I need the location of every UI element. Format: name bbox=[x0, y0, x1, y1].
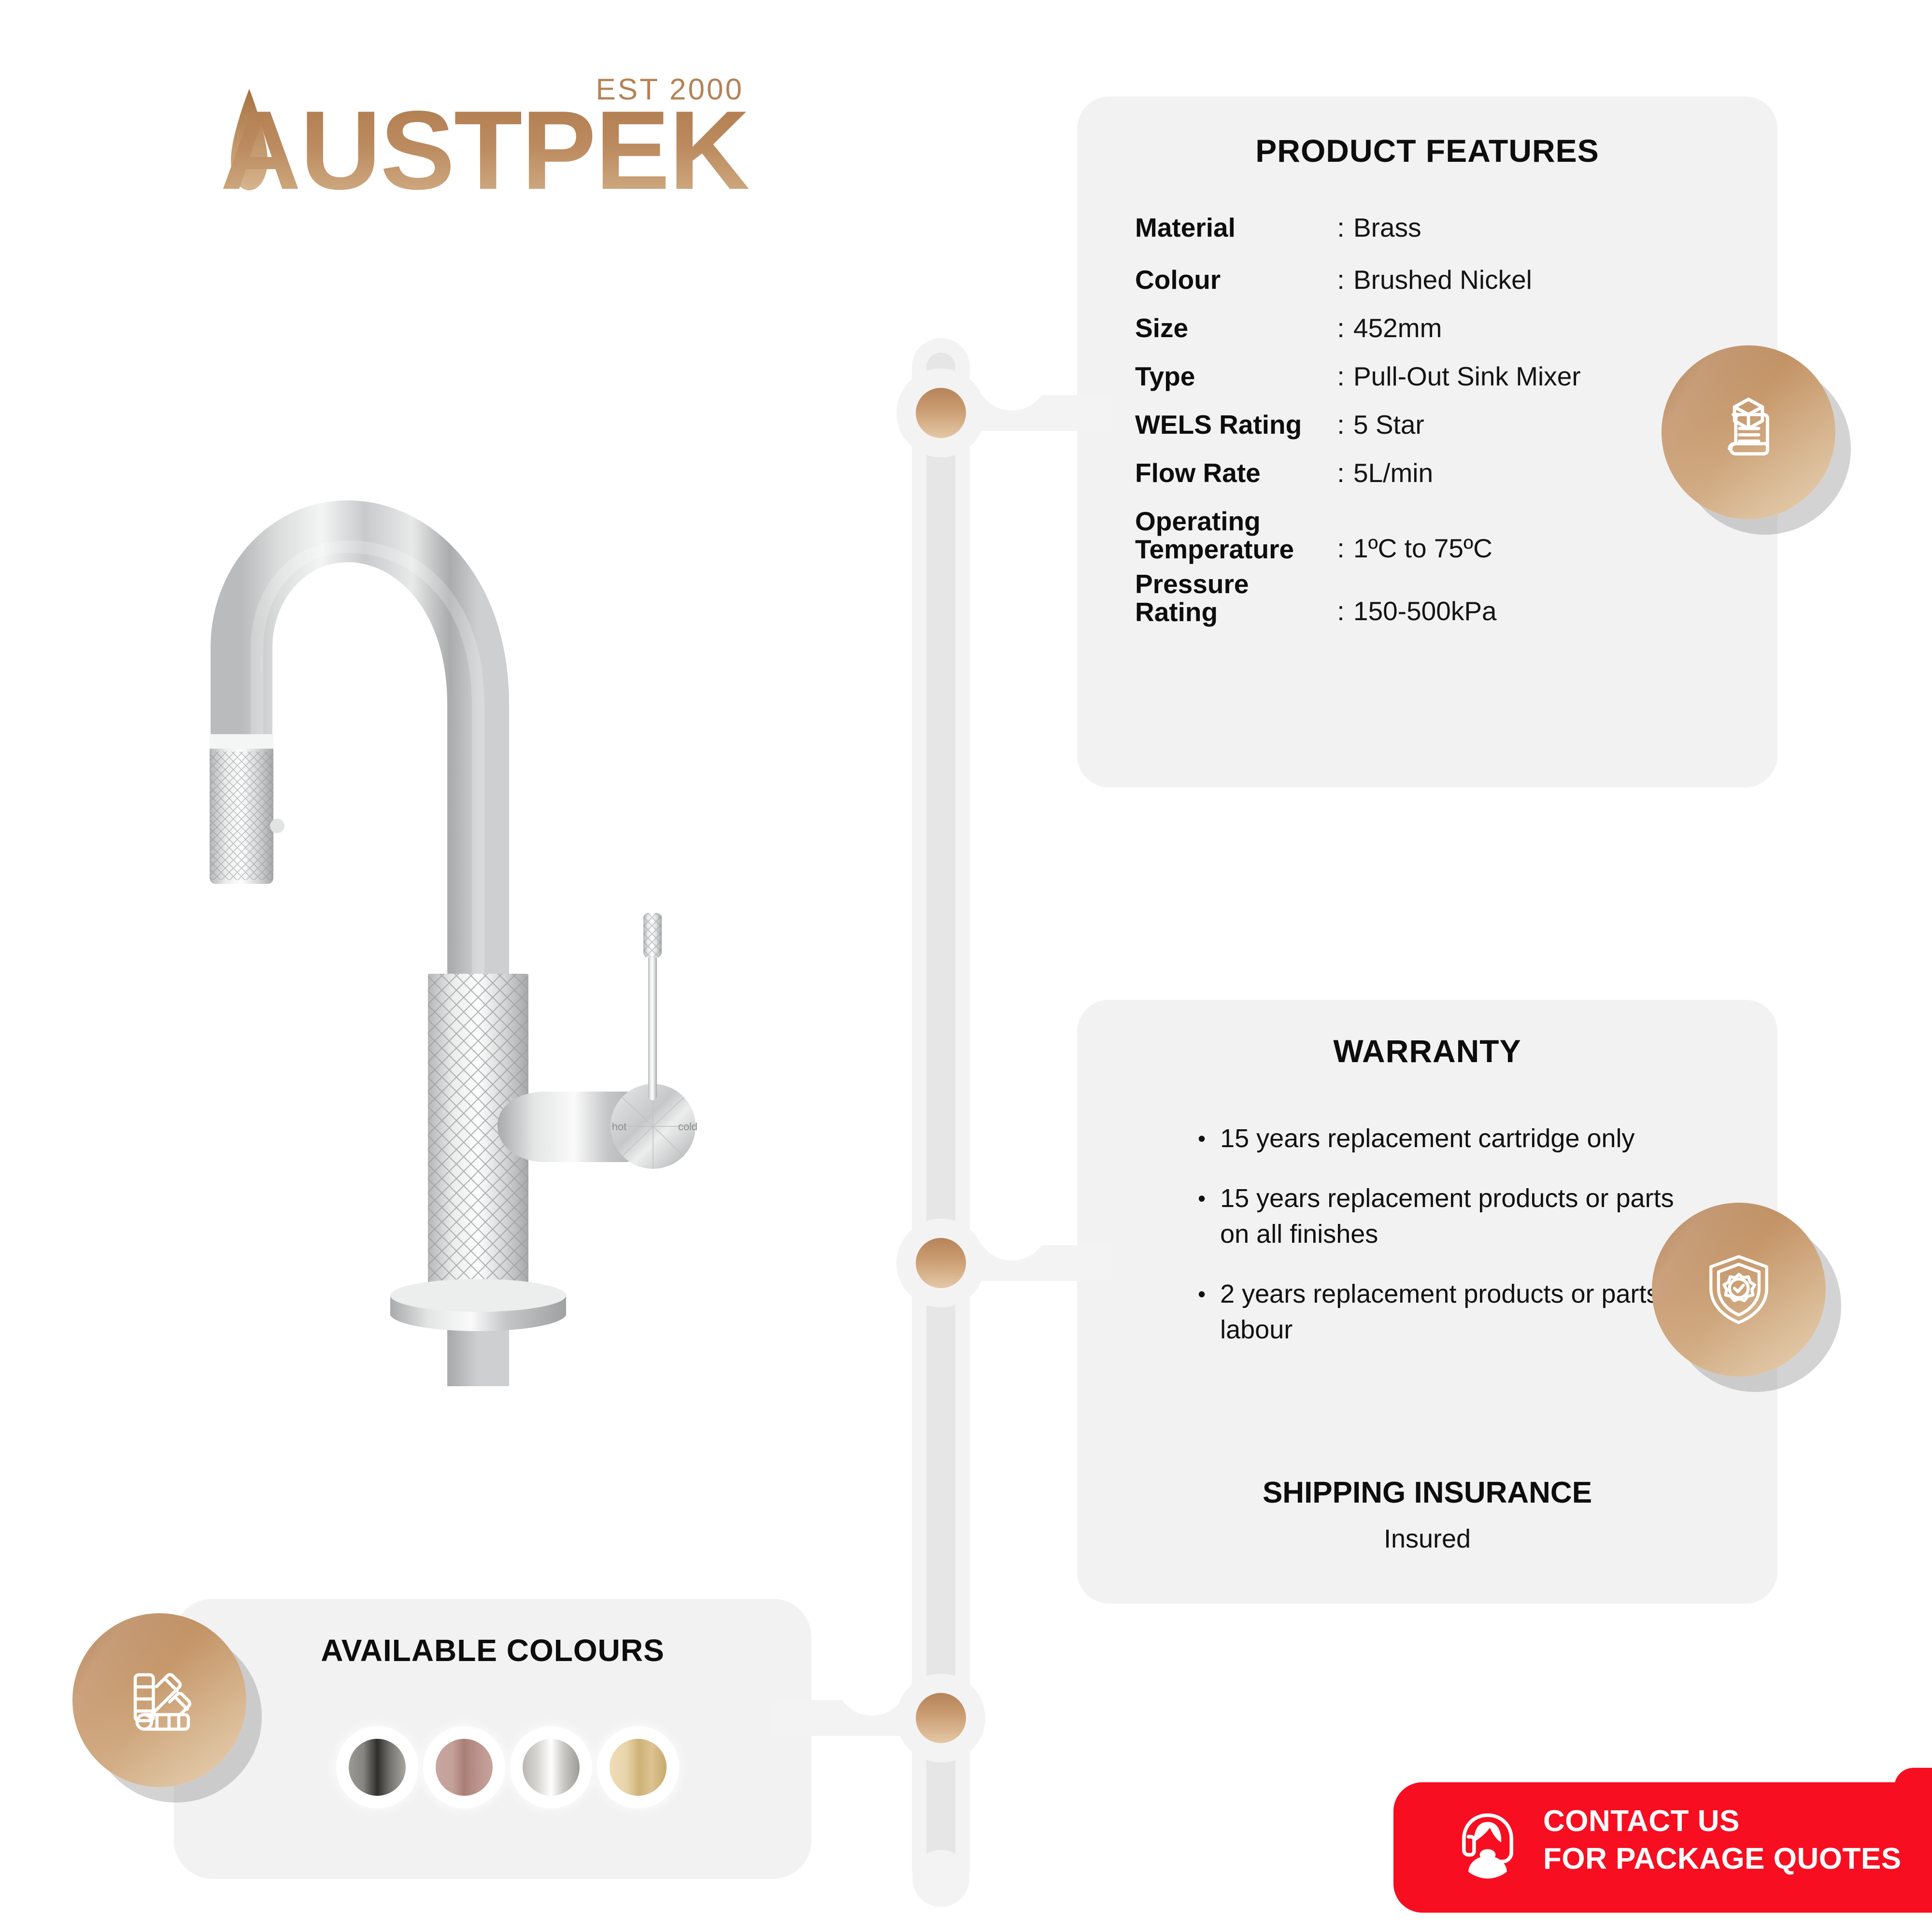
infographic-canvas: EST 2000 AUSTPEK bbox=[0, 0, 1932, 1932]
feature-label: WELS Rating bbox=[1135, 410, 1328, 440]
contact-us-banner[interactable]: CONTACT US FOR PACKAGE QUOTES bbox=[1393, 1768, 1932, 1913]
timeline-node-features bbox=[896, 369, 985, 457]
colour-swatch-row bbox=[349, 1739, 667, 1796]
feature-row: Material:Brass bbox=[1135, 213, 1734, 242]
feature-value: Brushed Nickel bbox=[1353, 265, 1734, 295]
timeline-notch-3a bbox=[836, 1643, 908, 1716]
feature-separator: : bbox=[1328, 458, 1353, 488]
timeline-track-inner bbox=[926, 353, 955, 1884]
contact-line-1: CONTACT US bbox=[1543, 1803, 1902, 1840]
timeline-end-cap bbox=[912, 1850, 969, 1907]
warranty-item-text: 15 years replacement products or parts o… bbox=[1220, 1180, 1705, 1252]
feature-value: Brass bbox=[1353, 213, 1734, 242]
feature-row: WELS Rating:5 Star bbox=[1135, 410, 1734, 440]
colour-swatch-gunmetal[interactable] bbox=[349, 1739, 406, 1796]
warranty-item: •2 years replacement products or parts &… bbox=[1198, 1276, 1705, 1348]
timeline-notch-1b bbox=[976, 448, 1048, 521]
feature-label: Flow Rate bbox=[1135, 458, 1328, 488]
feature-separator: : bbox=[1328, 361, 1353, 391]
feature-row: PressureRating:150-500kPa bbox=[1135, 570, 1734, 626]
contact-banner-text: CONTACT US FOR PACKAGE QUOTES bbox=[1543, 1803, 1902, 1878]
feature-row: Size:452mm bbox=[1135, 313, 1734, 343]
shipping-insurance-value: Insured bbox=[1077, 1524, 1777, 1554]
warranty-item-text: 15 years replacement cartridge only bbox=[1220, 1121, 1634, 1156]
handle-cold-label: cold bbox=[678, 1121, 697, 1133]
feature-label: OperatingTemperature bbox=[1135, 507, 1328, 563]
timeline-node-colours bbox=[896, 1674, 985, 1762]
warranty-item-text: 2 years replacement products or parts & … bbox=[1220, 1276, 1705, 1348]
feature-separator: : bbox=[1328, 265, 1353, 295]
handle-hot-label: hot bbox=[612, 1121, 627, 1133]
feature-separator: : bbox=[1328, 533, 1353, 563]
colour-swatch-rose-gold[interactable] bbox=[436, 1739, 493, 1796]
brand-name: AUSTPEK bbox=[220, 95, 749, 207]
contact-line-2: FOR PACKAGE QUOTES bbox=[1543, 1840, 1902, 1878]
feature-row: Type:Pull-Out Sink Mixer bbox=[1135, 361, 1734, 391]
feature-row: OperatingTemperature:1ºC to 75ºC bbox=[1135, 507, 1734, 563]
feature-row: Flow Rate:5L/min bbox=[1135, 458, 1734, 488]
timeline-notch-1a bbox=[976, 338, 1048, 411]
timeline-node-warranty bbox=[896, 1219, 985, 1307]
timeline-notch-3b bbox=[836, 1753, 908, 1826]
feature-separator: : bbox=[1328, 313, 1353, 343]
feature-row: Colour:Brushed Nickel bbox=[1135, 265, 1734, 295]
feature-value: 1ºC to 75ºC bbox=[1353, 533, 1734, 563]
available-colours-title: AVAILABLE COLOURS bbox=[174, 1633, 811, 1668]
feature-label: Material bbox=[1135, 213, 1328, 242]
shield-check-icon bbox=[1652, 1203, 1826, 1377]
timeline-notch-2a bbox=[976, 1188, 1048, 1261]
product-features-title: PRODUCT FEATURES bbox=[1077, 132, 1777, 169]
feature-label: Colour bbox=[1135, 265, 1328, 295]
bullet-icon: • bbox=[1198, 1276, 1206, 1348]
warranty-item: •15 years replacement cartridge only bbox=[1198, 1121, 1705, 1156]
feature-separator: : bbox=[1328, 213, 1353, 242]
product-image: hot cold bbox=[159, 396, 739, 1386]
warranty-title: WARRANTY bbox=[1077, 1033, 1777, 1069]
feature-label: PressureRating bbox=[1135, 570, 1328, 626]
bullet-icon: • bbox=[1198, 1121, 1206, 1156]
feature-label: Type bbox=[1135, 361, 1328, 391]
available-colours-panel: AVAILABLE COLOURS bbox=[174, 1599, 811, 1879]
warranty-list: •15 years replacement cartridge only•15 … bbox=[1198, 1121, 1705, 1372]
brand-logo: EST 2000 AUSTPEK bbox=[216, 68, 748, 227]
colour-swatch-chrome[interactable] bbox=[523, 1739, 580, 1796]
timeline-notch-2b bbox=[976, 1298, 1048, 1371]
feature-separator: : bbox=[1328, 596, 1353, 626]
feature-separator: : bbox=[1328, 410, 1353, 440]
product-spec-sheet-icon bbox=[1662, 345, 1835, 519]
headset-support-icon bbox=[1451, 1808, 1524, 1881]
feature-value: 452mm bbox=[1353, 313, 1734, 343]
colour-swatch-brushed-gold[interactable] bbox=[610, 1739, 667, 1796]
warranty-item: •15 years replacement products or parts … bbox=[1198, 1180, 1705, 1252]
shipping-insurance-title: SHIPPING INSURANCE bbox=[1077, 1476, 1777, 1510]
bullet-icon: • bbox=[1198, 1180, 1206, 1252]
colour-palette-icon bbox=[72, 1613, 246, 1787]
feature-value: 150-500kPa bbox=[1353, 596, 1734, 626]
feature-label: Size bbox=[1135, 313, 1328, 343]
